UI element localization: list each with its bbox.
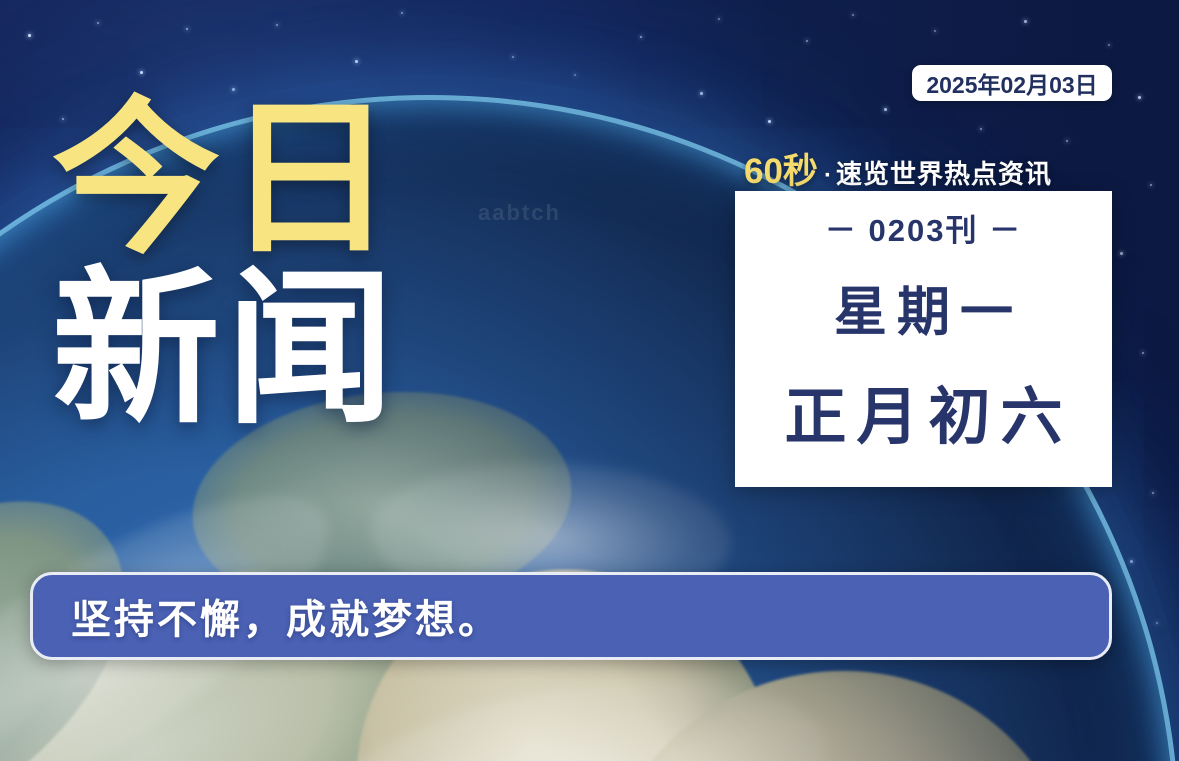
quote-text: 坚持不懈，成就梦想。 bbox=[71, 587, 501, 645]
title-line-news: 新闻 bbox=[52, 270, 400, 430]
tagline-seconds: 60秒 bbox=[744, 143, 818, 194]
info-card: － 0203刊 － 星期一 正月初六 bbox=[735, 191, 1112, 487]
news-poster: aabtch 今日 新闻 2025年02月03日 60秒 · 速览世界热点资讯 … bbox=[0, 0, 1179, 761]
tagline: 60秒 · 速览世界热点资讯 bbox=[744, 143, 1052, 194]
date-badge: 2025年02月03日 bbox=[912, 65, 1112, 101]
tagline-description: 速览世界热点资讯 bbox=[836, 154, 1052, 191]
tagline-separator-dot: · bbox=[824, 162, 832, 190]
lunar-date: 正月初六 bbox=[774, 366, 1072, 456]
issue-number: － 0203刊 － bbox=[825, 205, 1022, 250]
title-line-today: 今日 bbox=[52, 100, 400, 260]
quote-banner: 坚持不懈，成就梦想。 bbox=[30, 572, 1112, 660]
weekday-label: 星期一 bbox=[824, 270, 1023, 346]
page-title: 今日 新闻 bbox=[52, 100, 400, 429]
